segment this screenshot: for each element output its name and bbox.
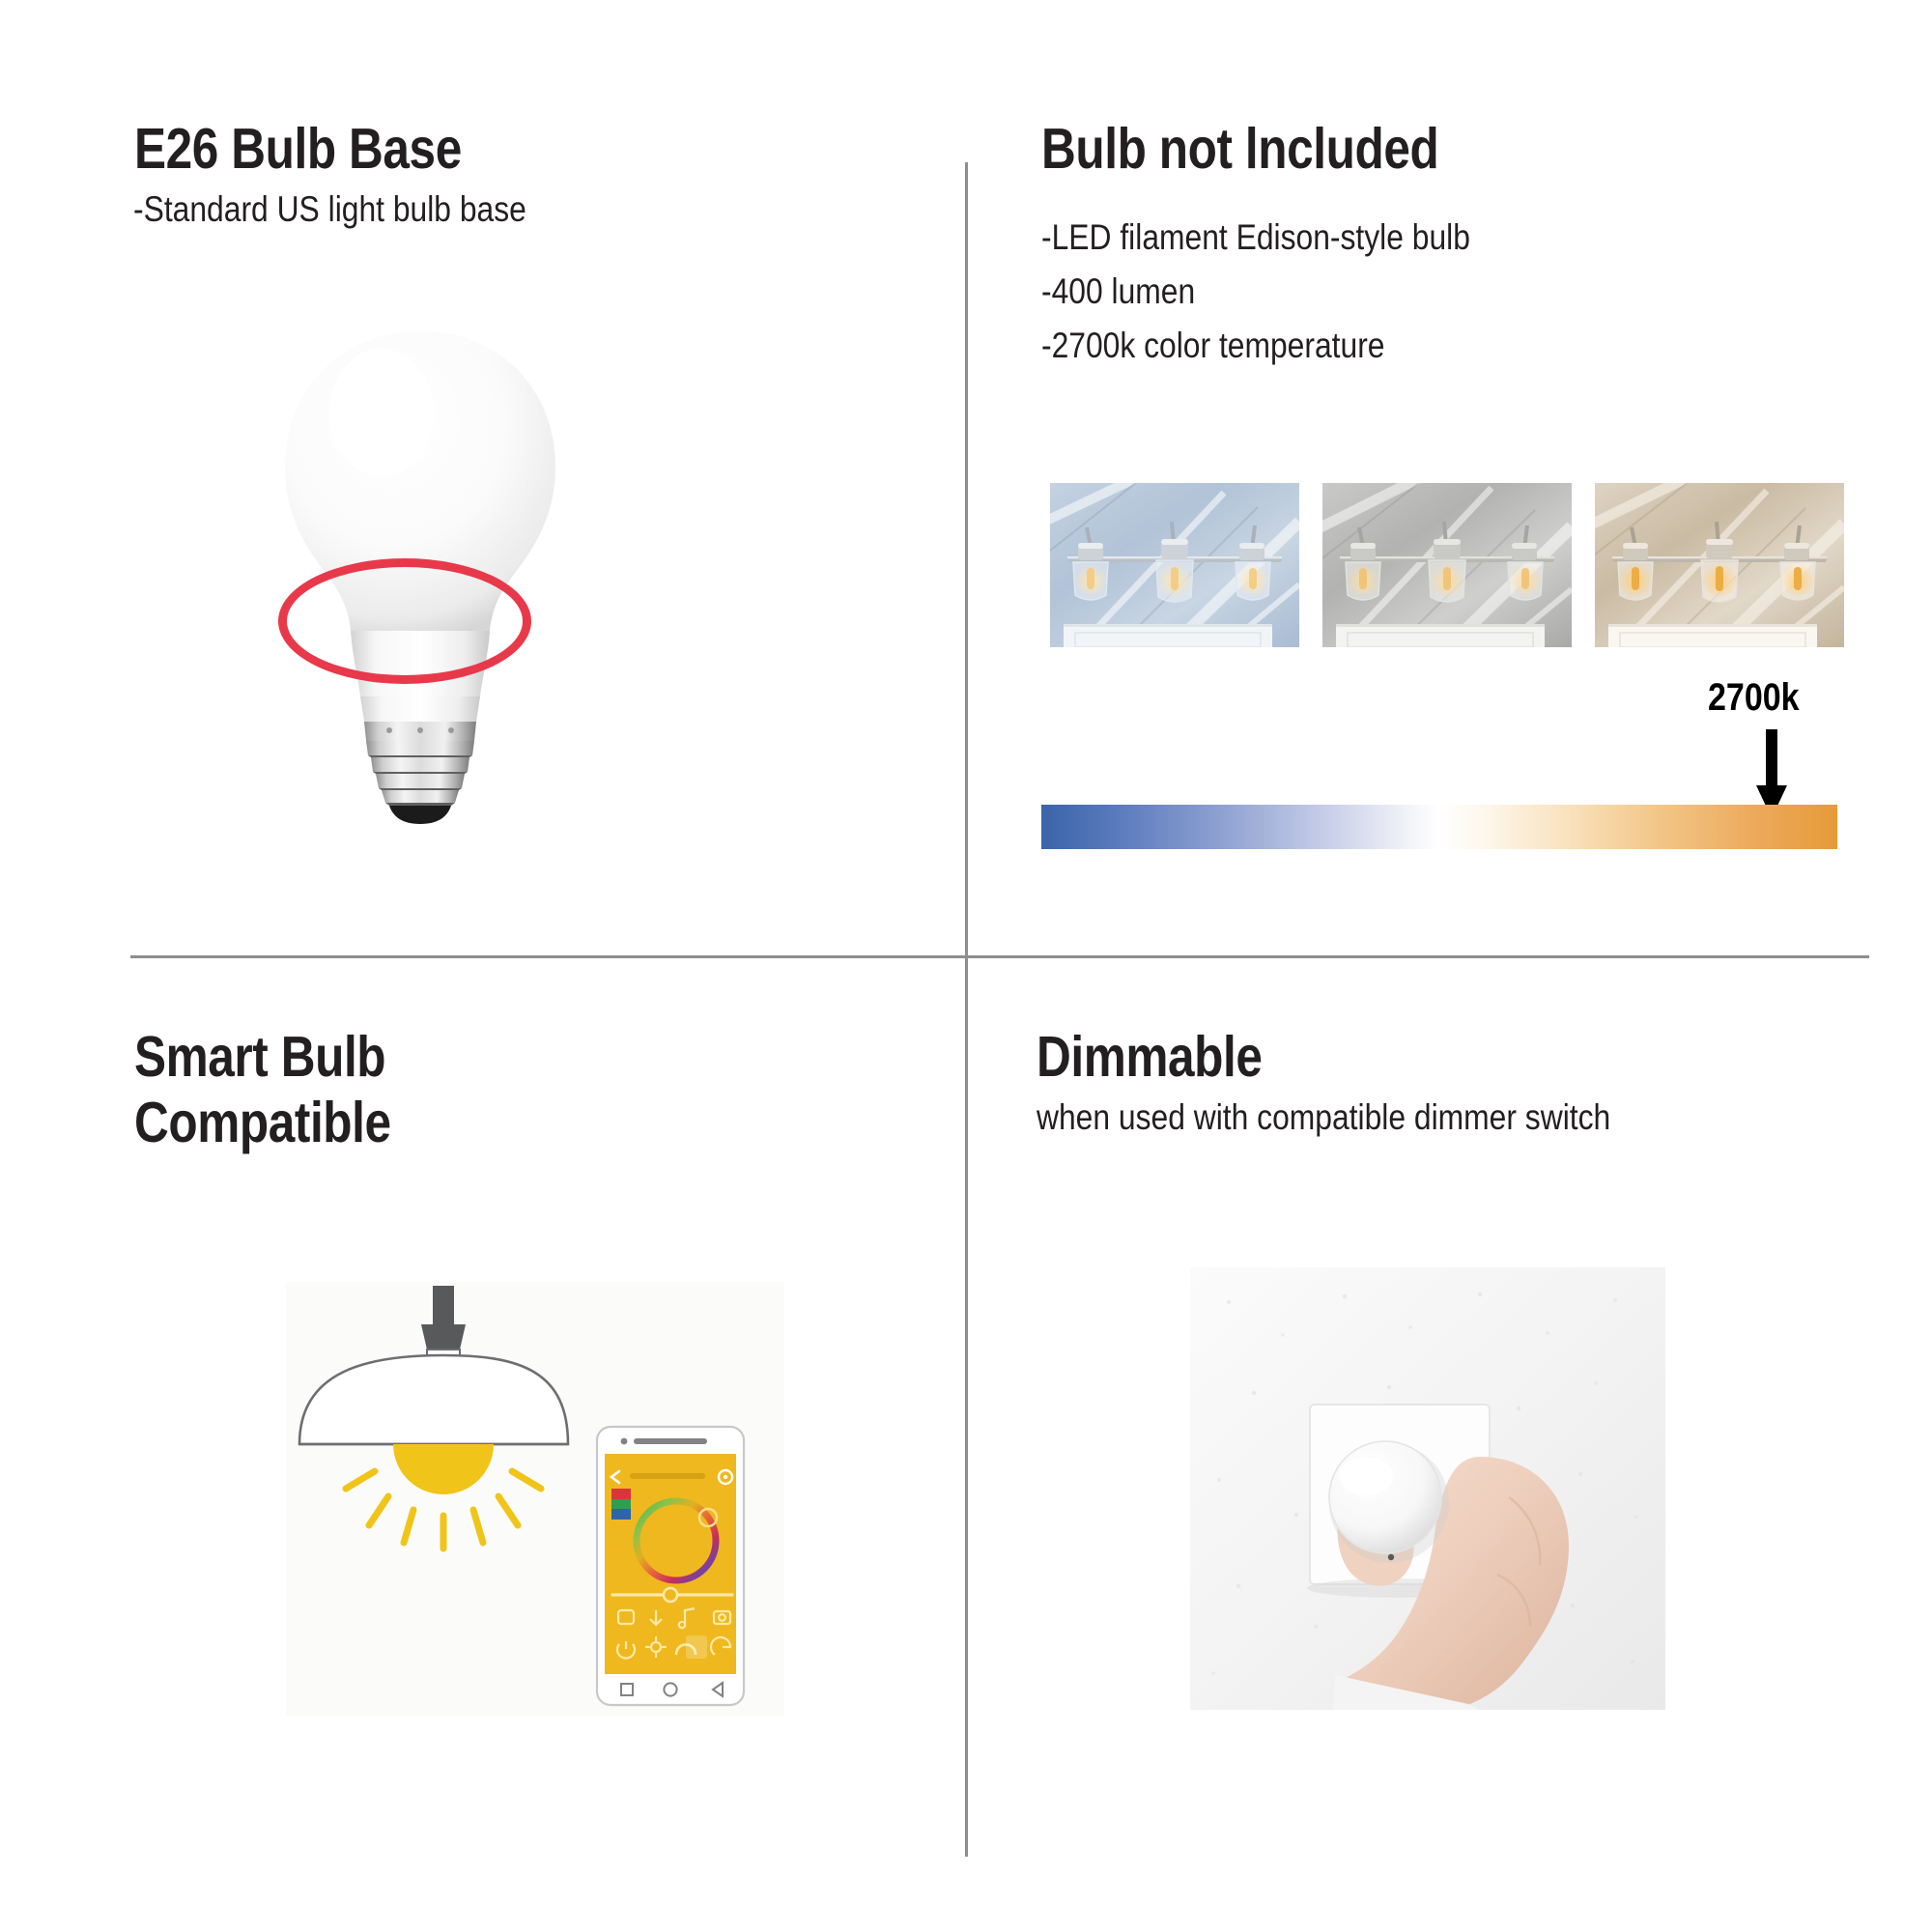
bulb-not-included-title: Bulb not lncluded: [1041, 116, 1438, 182]
product-feature-infographic: E26 Bulb Base -Standard US light bulb ba…: [0, 0, 1932, 1932]
dimmable-subtitle: when used with compatible dimmer switch: [1037, 1097, 1610, 1138]
dimmer-switch-photo: [1190, 1267, 1665, 1710]
color-temperature-gradient-bar: [1041, 805, 1837, 849]
vanity-thumbnail-warm-beige: [1595, 483, 1844, 647]
smart-bulb-illustration: [286, 1282, 784, 1717]
vanity-thumbnail-neutral-gray: [1322, 483, 1572, 647]
bulb-base-title: E26 Bulb Base: [134, 116, 462, 182]
bullet-led-filament: -LED filament Edison-style bulb: [1041, 217, 1470, 258]
e26-base-highlight-ellipse: [278, 558, 531, 684]
dimmable-title: Dimmable: [1037, 1024, 1263, 1090]
divider-horizontal: [130, 955, 1869, 958]
bullet-color-temperature: -2700k color temperature: [1041, 326, 1385, 366]
divider-vertical-bottom: [965, 958, 968, 1857]
vanity-thumbnail-cool-blue: [1050, 483, 1299, 647]
bulb-illustration: [246, 324, 594, 826]
bullet-lumen: -400 lumen: [1041, 271, 1195, 312]
vanity-thumbnail-row: [1050, 483, 1844, 647]
bulb-base-subtitle: -Standard US light bulb base: [133, 189, 526, 230]
smart-bulb-title-line-1: Smart Bulb: [134, 1024, 385, 1090]
divider-vertical-top: [965, 162, 968, 956]
color-temperature-marker-label: 2700k: [1708, 676, 1800, 720]
smartphone-app: [597, 1427, 744, 1705]
smart-bulb-title-line-2: Compatible: [134, 1090, 391, 1155]
